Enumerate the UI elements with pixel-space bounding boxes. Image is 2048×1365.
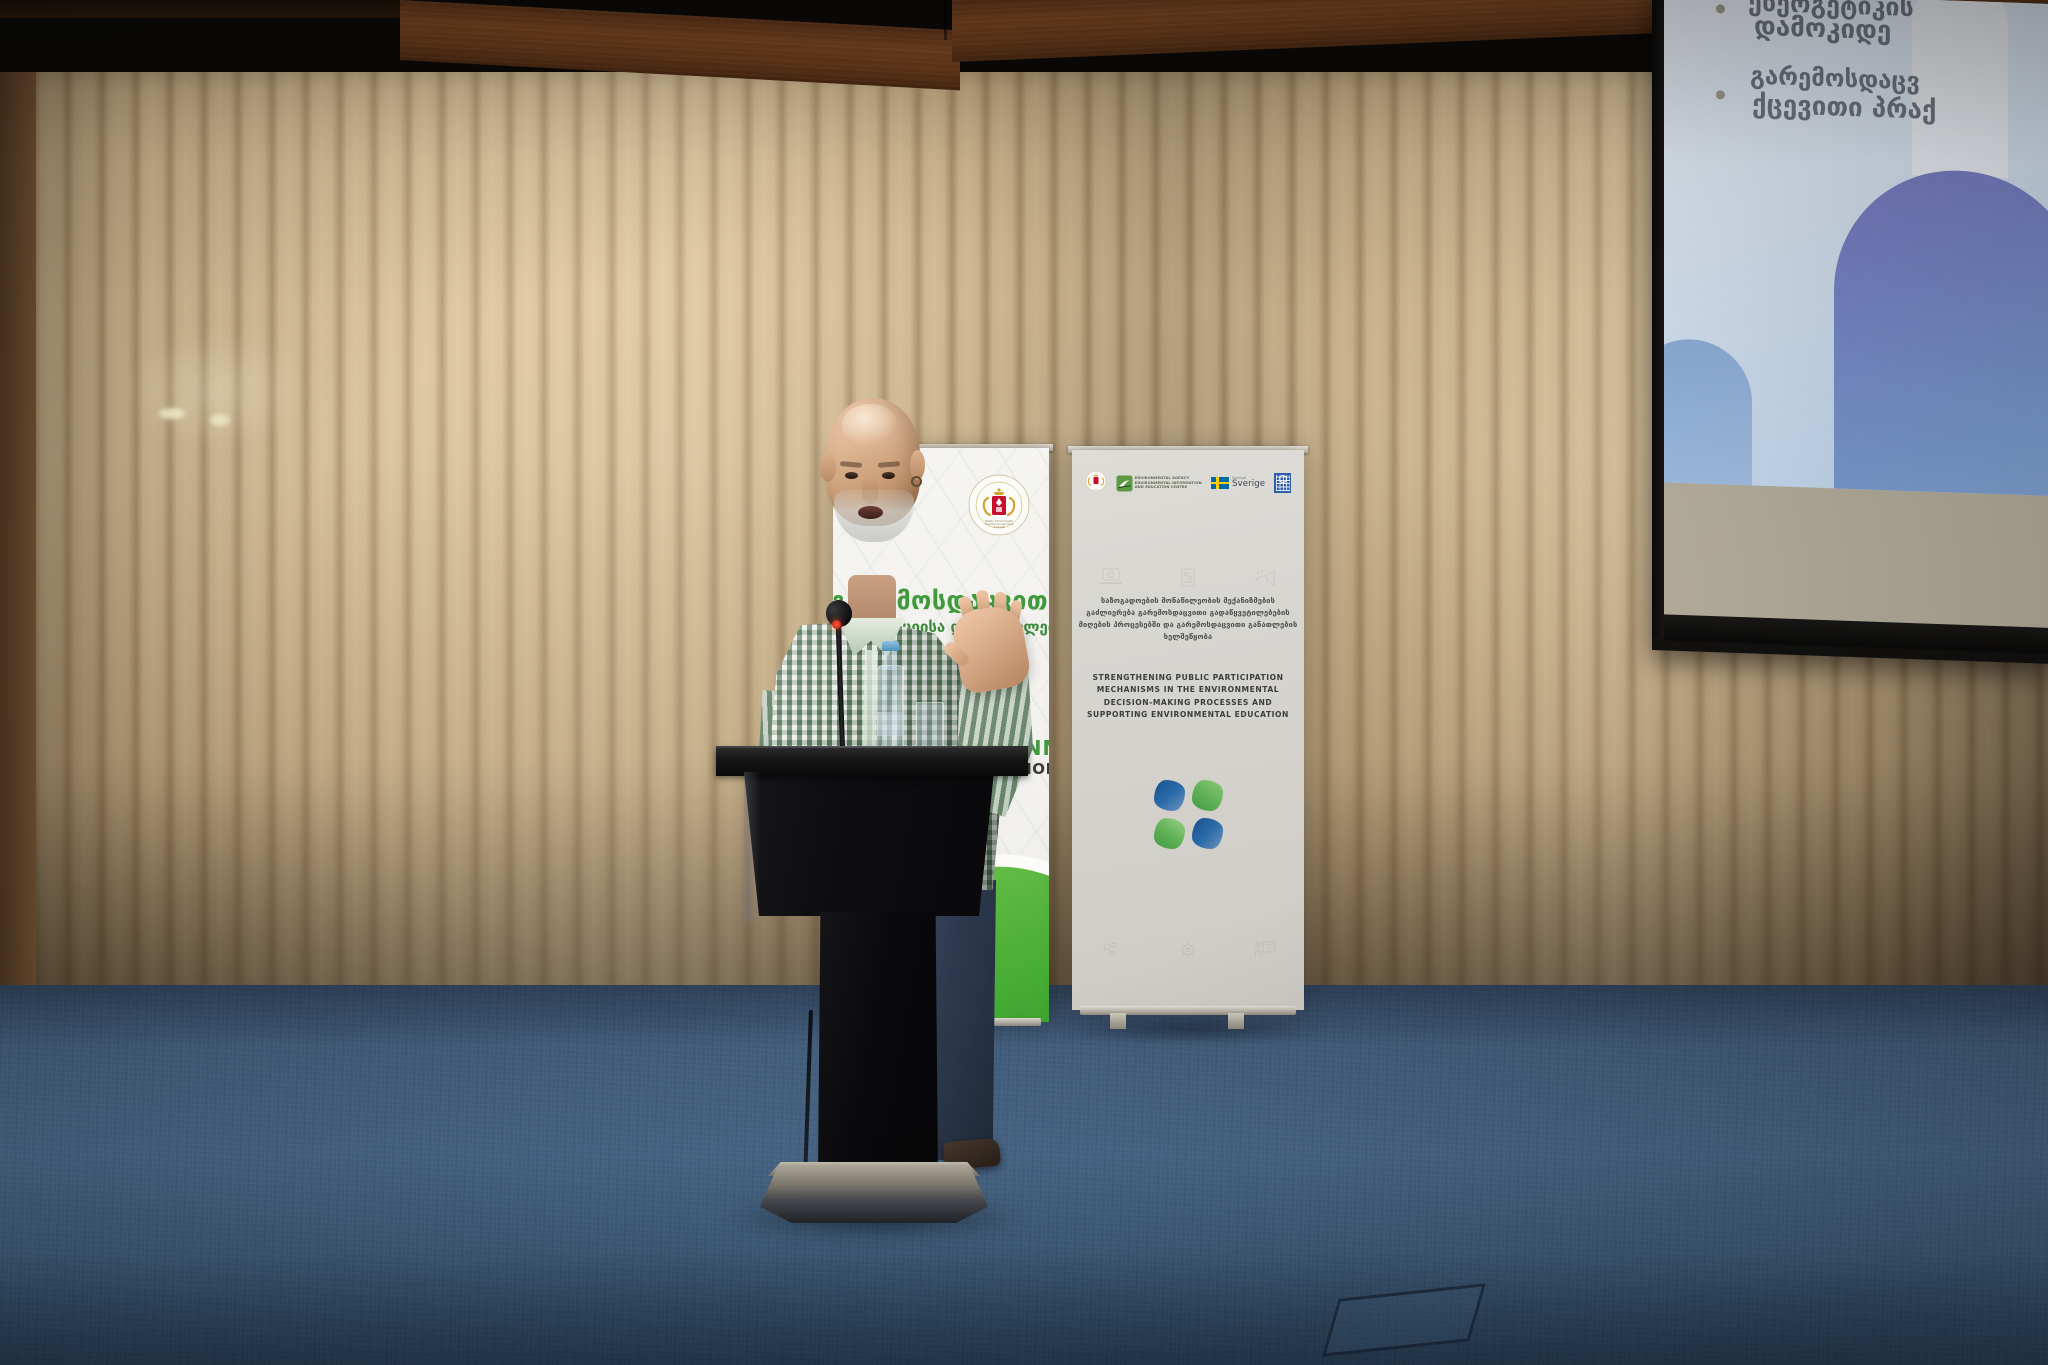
- water-bottle-cap: [882, 641, 899, 651]
- laptop-icon: [1100, 568, 1122, 586]
- slide-bullet-dot: [1716, 90, 1725, 99]
- speaker-left-ear: [820, 452, 836, 482]
- megaphone-icon: [1254, 568, 1276, 588]
- lectern-base-plate: [760, 1165, 988, 1223]
- ngo-logo-caption: ENVIRONMENTAL AGENCYENVIRONMENTAL INFORM…: [1135, 476, 1202, 489]
- screen-surface: ენერგეტიკის დამოკიდე გარემოსდაცვ ქცევითი…: [1664, 0, 2048, 629]
- georgia-crest-icon: Ministry: [1085, 470, 1107, 496]
- ngo-leaf-logo: ENVIRONMENTAL AGENCYENVIRONMENTAL INFORM…: [1116, 475, 1202, 492]
- slide-text-line: დამოკიდე: [1754, 12, 1891, 47]
- document-icon: [1179, 568, 1197, 588]
- banner-project-shadow: [1066, 1016, 1318, 1042]
- sweden-logo-text: Sverige: [1232, 480, 1265, 489]
- microphone-led-indicator: [832, 620, 841, 629]
- speaker-scalp-highlight: [842, 404, 898, 446]
- presentation-icon: [1254, 940, 1276, 960]
- projected-slide: ენერგეტიკის დამოკიდე გარემოსდაცვ ქცევითი…: [1664, 0, 2048, 496]
- leaf-logo-icon: [1116, 475, 1133, 492]
- floor-light-sheen: [0, 985, 2048, 1365]
- four-petal-leaf-logo-icon: [1154, 780, 1224, 850]
- banner-project-foot: [1228, 1013, 1244, 1029]
- lectern-column: [818, 912, 938, 1174]
- banner-watermark-icons-top: [1072, 568, 1304, 588]
- sweden-flag-icon: [1211, 477, 1229, 489]
- slide-bullet-dot: [1716, 4, 1725, 13]
- light-reflection-spot: [210, 414, 230, 426]
- lectern-body: [744, 772, 994, 916]
- slide-text-line: ქცევითი პრაქ: [1752, 89, 1936, 125]
- banner-project-logo-row: Ministry ENVIRONMENTAL AGENCYENVIRONMENT…: [1072, 466, 1304, 500]
- svg-text:of Georgia: of Georgia: [993, 526, 1005, 529]
- left-wall-edge: [0, 0, 36, 1010]
- gear-icon: [1178, 940, 1198, 960]
- lectern-edge-highlight: [744, 772, 760, 922]
- banner-project-text-georgian: საზოგადოების მონაწილეობის მექანიზმების გ…: [1078, 595, 1298, 643]
- conference-room-photo: ენერგეტიკის დამოკიდე გარემოსდაცვ ქცევითი…: [0, 0, 2048, 1365]
- ceiling-dark-edge: [0, 0, 410, 18]
- slide-pale-arch: [1912, 0, 2008, 178]
- speaker-eye: [882, 472, 895, 479]
- network-icon: [1100, 940, 1122, 960]
- banner-project-text-english: STRENGTHENING PUBLIC PARTICIPATION MECHA…: [1080, 672, 1296, 721]
- speaker-earring: [911, 476, 922, 487]
- water-bottle-label: [877, 712, 904, 736]
- banner-project-foot: [1110, 1013, 1126, 1029]
- lectern-top-surface: [716, 748, 1028, 776]
- valance-corner-seam: [944, 0, 947, 40]
- water-bottle-neck: [884, 648, 897, 670]
- speaker-eye: [845, 472, 858, 479]
- projection-screen: ენერგეტიკის დამოკიდე გარემოსდაცვ ქცევითი…: [1652, 0, 2048, 664]
- banner-project: Ministry ENVIRONMENTAL AGENCYENVIRONMENT…: [1072, 450, 1304, 1010]
- banner-watermark-icons-bottom: [1072, 940, 1304, 960]
- slide-arch-small: [1664, 337, 1752, 496]
- georgian-coat-of-arms-icon: Ministry of Environmental Protection and…: [968, 474, 1030, 536]
- light-reflection-spot: [159, 408, 185, 419]
- slide-arch-large: [1834, 166, 2048, 496]
- curtain-light-glow: [120, 330, 310, 450]
- un-undp-logo-icon: [1274, 473, 1291, 493]
- speaker-mouth: [858, 506, 883, 519]
- sweden-flag-logo: Sverige Sverige: [1211, 477, 1265, 489]
